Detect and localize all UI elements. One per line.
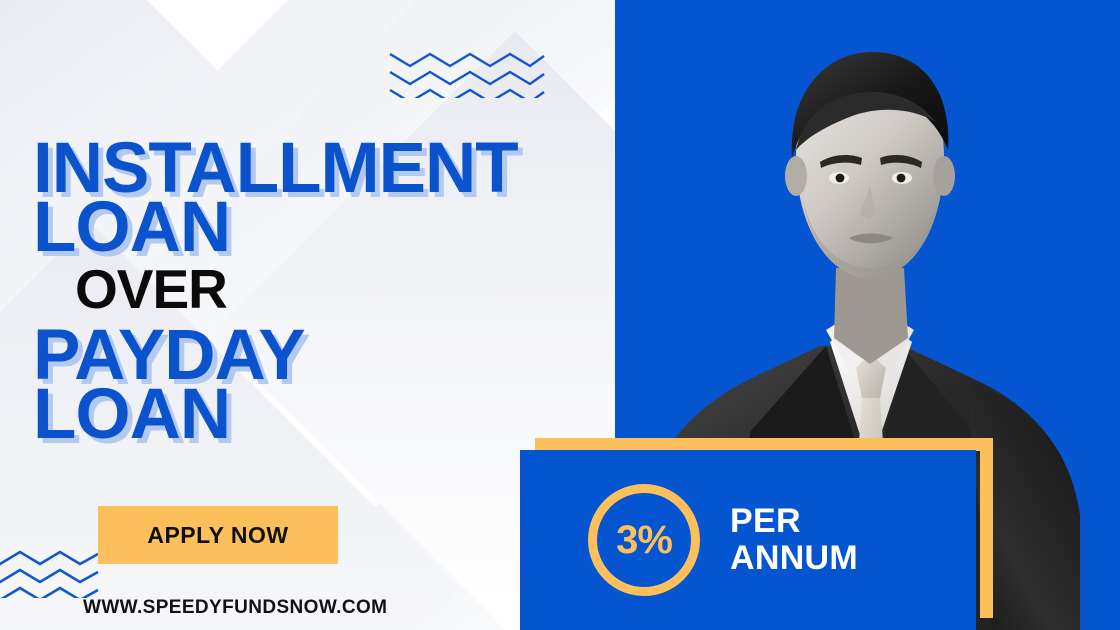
rate-percent-value: 3% bbox=[616, 518, 672, 563]
rate-percent-circle: 3% bbox=[588, 484, 700, 596]
rate-label-line-1: PER bbox=[730, 503, 858, 540]
rate-label-line-2: ANNUM bbox=[730, 540, 858, 577]
website-url: WWW.SPEEDYFUNDSNOW.COM bbox=[83, 597, 387, 619]
zigzag-lines-bottom-icon bbox=[0, 546, 100, 598]
headline-line-3: OVER bbox=[75, 266, 623, 313]
zigzag-lines-top-icon bbox=[388, 46, 546, 98]
promo-banner: INSTALLMENT LOAN OVER PAYDAY LOAN APPLY … bbox=[0, 0, 1120, 630]
headline-line-5: LOAN bbox=[33, 384, 623, 445]
headline-group: INSTALLMENT LOAN OVER PAYDAY LOAN bbox=[33, 138, 623, 445]
rate-label: PER ANNUM bbox=[730, 503, 858, 576]
apply-now-button[interactable]: APPLY NOW bbox=[98, 506, 338, 564]
rate-badge: 3% PER ANNUM bbox=[520, 450, 976, 630]
